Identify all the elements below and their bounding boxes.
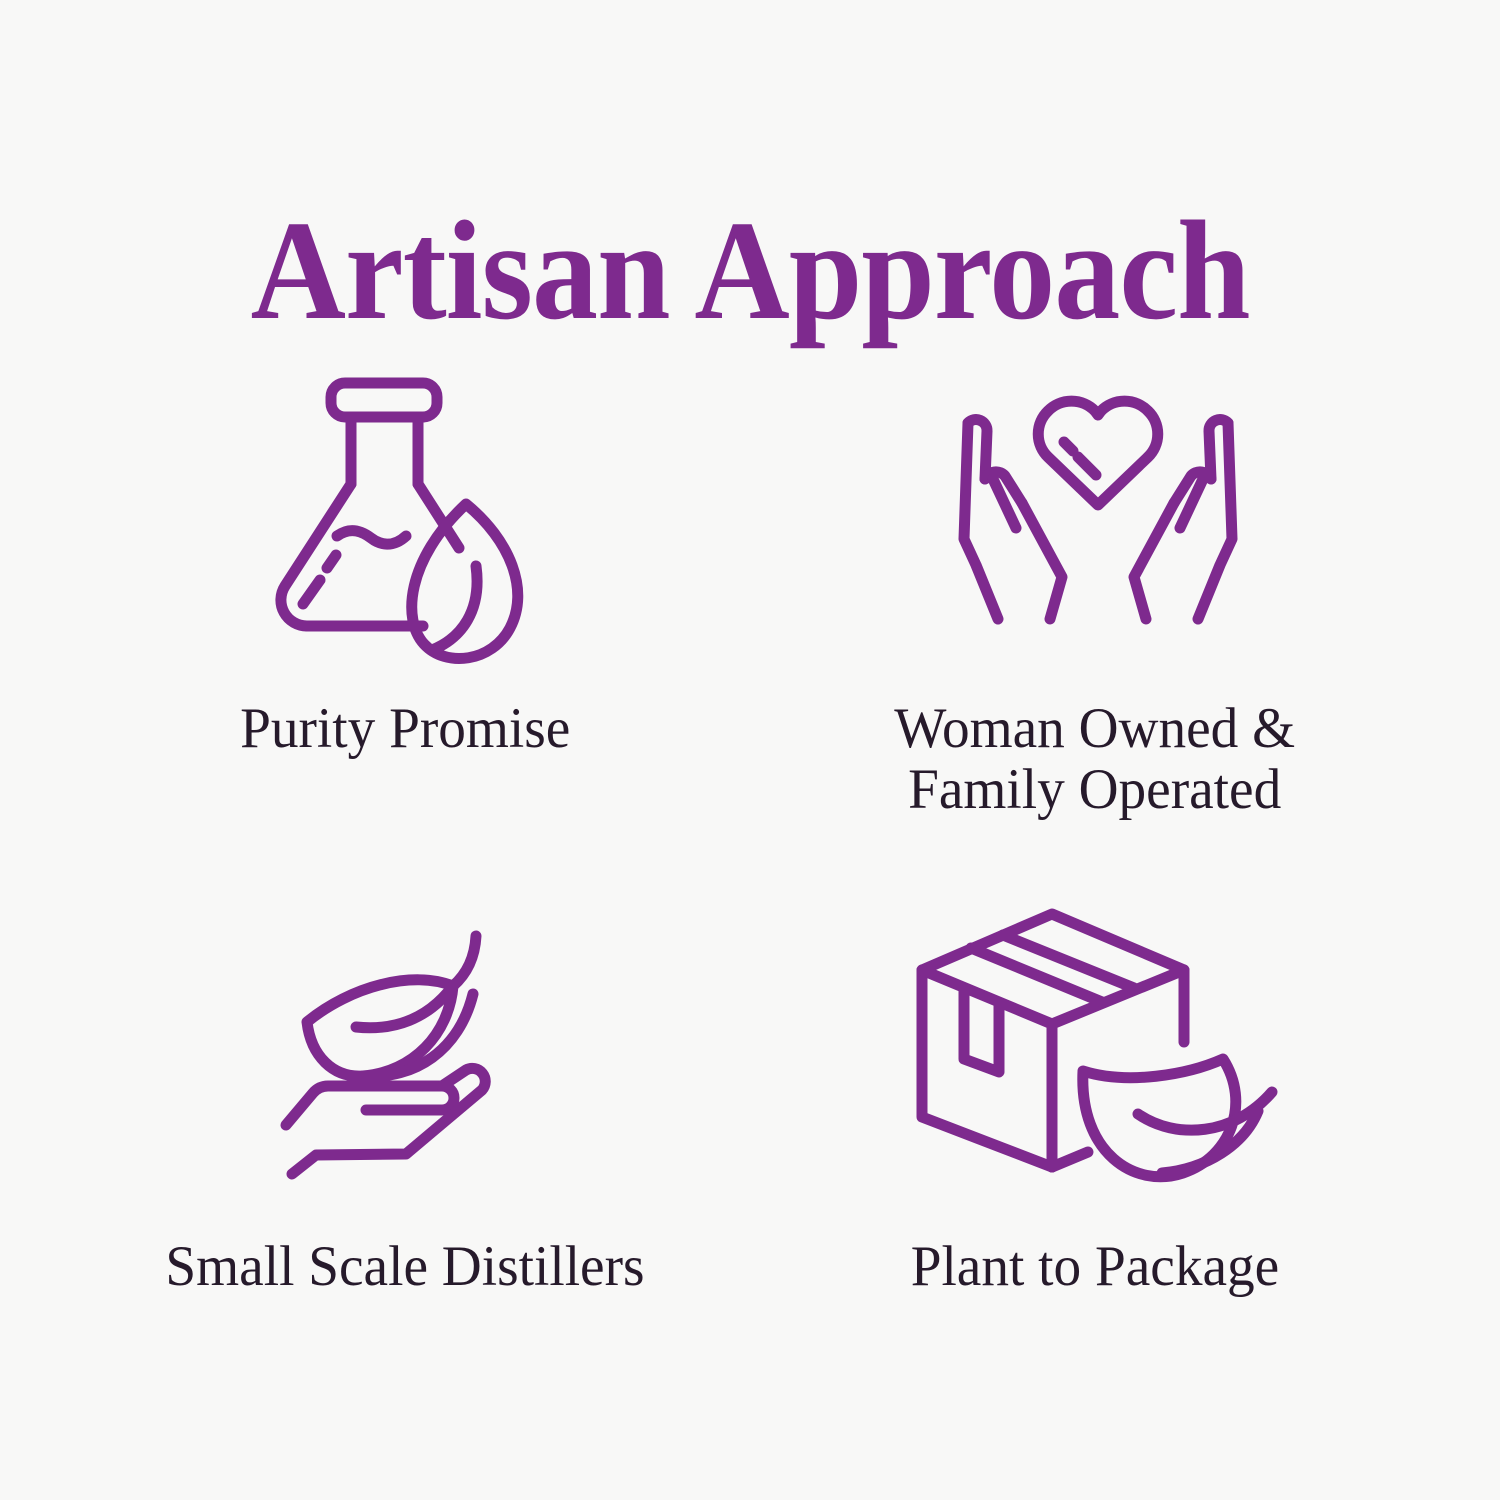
page-title: Artisan Approach [251, 199, 1250, 341]
feature-item-plant-to-package: Plant to Package [750, 890, 1440, 1420]
feature-label-purity-promise: Purity Promise [240, 698, 570, 759]
flask-leaf-icon [263, 360, 531, 660]
leaf-in-hand-icon [280, 900, 518, 1200]
feature-grid: Purity Promise [60, 360, 1440, 1420]
box-leaf-icon [912, 894, 1298, 1194]
feature-item-purity-promise: Purity Promise [60, 360, 750, 890]
feature-item-woman-owned: Woman Owned & Family Operated [750, 360, 1440, 890]
feature-label-small-scale-distillers: Small Scale Distillers [165, 1236, 644, 1297]
feature-item-small-scale-distillers: Small Scale Distillers [60, 890, 750, 1420]
feature-label-woman-owned: Woman Owned & Family Operated [895, 698, 1296, 820]
hands-holding-heart-icon [940, 360, 1256, 660]
artisan-approach-infographic: Artisan Approach [0, 0, 1500, 1500]
feature-label-plant-to-package: Plant to Package [911, 1236, 1280, 1297]
